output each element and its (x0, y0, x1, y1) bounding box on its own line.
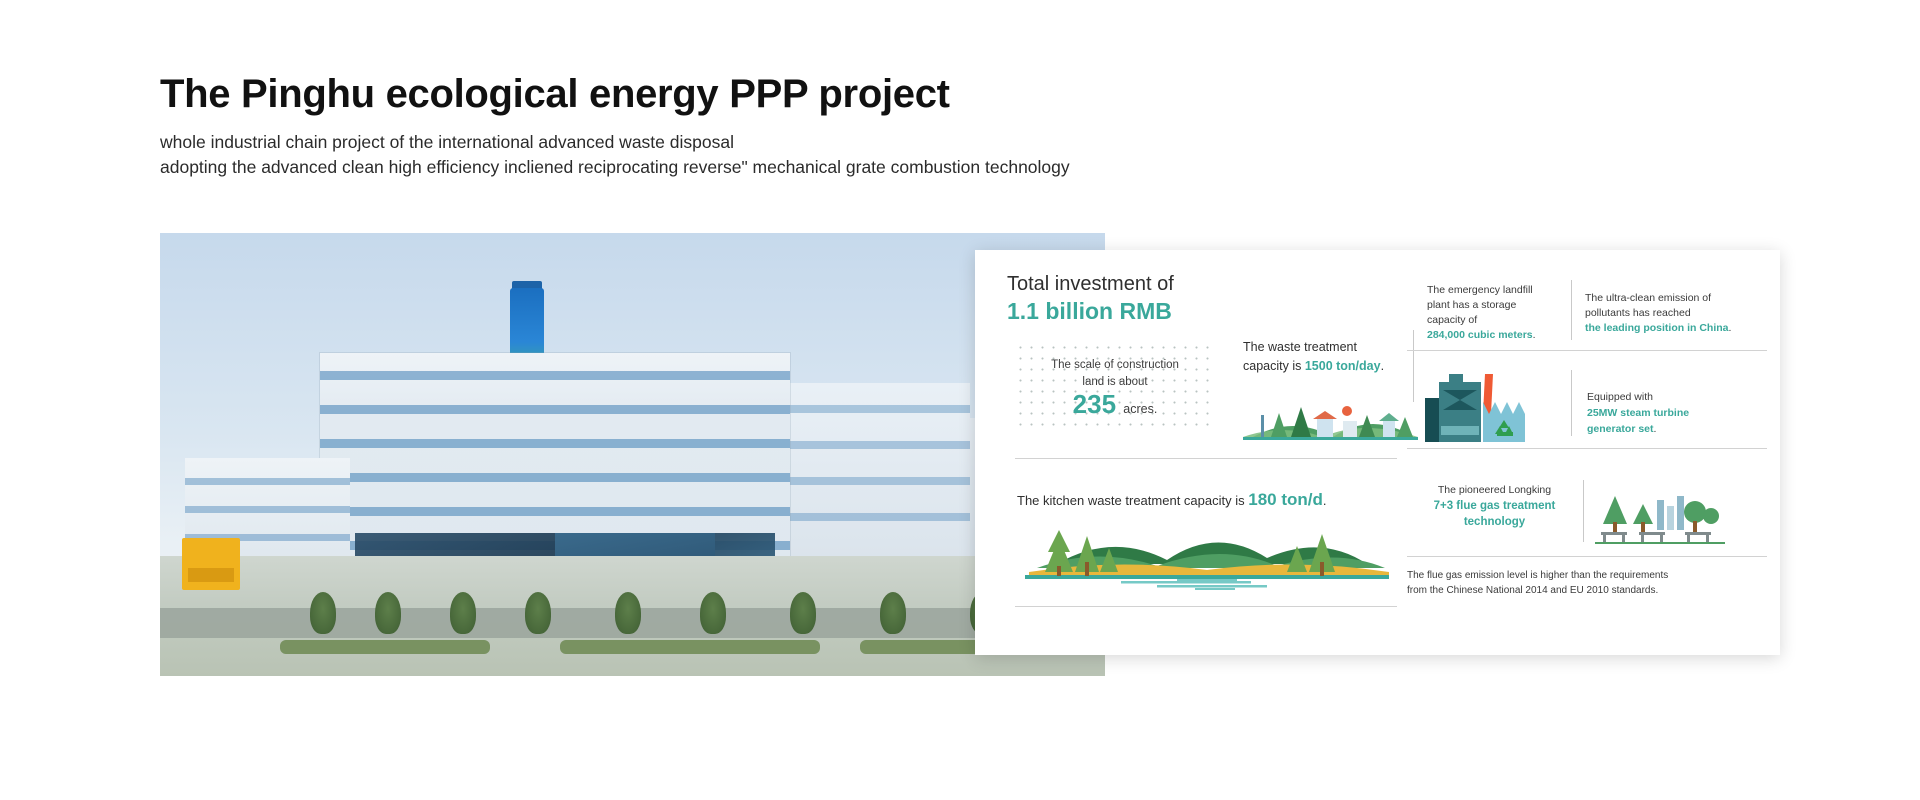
longking-block: The pioneered Longking 7+3 flue gas trea… (1407, 483, 1582, 530)
land-scale-number: 235 acres. (1073, 391, 1158, 417)
waste-capacity-prefix: capacity is (1243, 359, 1301, 373)
landfill-line-2: plant has a storage (1427, 298, 1562, 313)
equipped-value-line-1: 25MW steam turbine (1587, 406, 1757, 422)
longking-line-1: The pioneered Longking (1407, 483, 1582, 498)
equipped-value-1: 25MW steam turbine (1587, 407, 1689, 419)
factory-illustration (1423, 368, 1553, 446)
subtitle-line-1: whole industrial chain project of the in… (160, 130, 1360, 155)
project-photo (160, 233, 1105, 676)
divider-horizontal-1 (1015, 458, 1397, 459)
waste-capacity-suffix: . (1381, 359, 1384, 373)
investment-label: Total investment of (1007, 272, 1307, 297)
land-scale-unit: acres. (1123, 402, 1157, 416)
building-right (760, 383, 970, 558)
divider-horizontal-2 (1015, 606, 1397, 607)
divider-horizontal-3 (1407, 350, 1767, 351)
landfill-line-4: 284,000 cubic meters. (1427, 328, 1562, 343)
landscape-illustration (1017, 518, 1397, 590)
equipped-suffix: . (1654, 423, 1657, 435)
waste-capacity-value: 1500 ton/day (1305, 359, 1381, 373)
ultra-clean-value: the leading position in China (1585, 322, 1729, 334)
village-illustration (1243, 385, 1418, 447)
divider-horizontal-4 (1407, 448, 1767, 449)
ultra-clean-line-2: pollutants has reached (1585, 306, 1760, 321)
flue-gas-block: The flue gas emission level is higher th… (1407, 568, 1767, 598)
kitchen-waste-suffix: . (1323, 493, 1327, 508)
equipped-block: Equipped with 25MW steam turbine generat… (1587, 390, 1757, 437)
kitchen-waste-value: 180 ton/d (1248, 490, 1323, 509)
ultra-clean-line-3: the leading position in China. (1585, 321, 1760, 336)
total-investment-block: Total investment of 1.1 billion RMB (1007, 272, 1307, 326)
investment-value: 1.1 billion RMB (1007, 297, 1307, 326)
ultra-clean-block: The ultra-clean emission of pollutants h… (1585, 291, 1760, 337)
landfill-suffix: . (1533, 329, 1536, 341)
divider-vertical-1 (1413, 330, 1414, 402)
land-scale-line-1: The scale of construction (1051, 357, 1179, 374)
ultra-clean-suffix: . (1729, 322, 1732, 334)
equipped-value-line-2: generator set. (1587, 422, 1757, 438)
equipped-value-2: generator set (1587, 423, 1654, 435)
kitchen-waste-prefix: The kitchen waste treatment capacity is (1017, 493, 1245, 508)
kitchen-waste-line: The kitchen waste treatment capacity is … (1017, 490, 1397, 510)
park-illustration (1595, 490, 1725, 546)
land-scale-block: The scale of construction land is about … (1015, 342, 1215, 432)
landfill-block: The emergency landfill plant has a stora… (1427, 283, 1562, 343)
subtitle-line-2: adopting the advanced clean high efficie… (160, 155, 1360, 180)
page-title: The Pinghu ecological energy PPP project (160, 72, 1360, 116)
divider-vertical-3 (1571, 370, 1572, 436)
flue-gas-line-1: The flue gas emission level is higher th… (1407, 568, 1767, 583)
landfill-line-1: The emergency landfill (1427, 283, 1562, 298)
landfill-value: 284,000 cubic meters (1427, 329, 1533, 341)
longking-value-2: technology (1407, 514, 1582, 530)
flue-gas-line-2: from the Chinese National 2014 and EU 20… (1407, 583, 1767, 598)
land-scale-value: 235 (1073, 389, 1116, 419)
divider-horizontal-5 (1407, 556, 1767, 557)
landfill-line-3: capacity of (1427, 313, 1562, 328)
kitchen-waste-block: The kitchen waste treatment capacity is … (1017, 490, 1397, 510)
equipped-line-1: Equipped with (1587, 390, 1757, 406)
infographic-card: Total investment of 1.1 billion RMB The … (975, 250, 1780, 655)
divider-vertical-2 (1571, 280, 1572, 340)
divider-vertical-4 (1583, 480, 1584, 542)
yellow-structure (182, 538, 240, 590)
ultra-clean-line-1: The ultra-clean emission of (1585, 291, 1760, 306)
longking-value-1: 7+3 flue gas treatment (1407, 498, 1582, 514)
slide-page: The Pinghu ecological energy PPP project… (0, 0, 1920, 800)
header: The Pinghu ecological energy PPP project… (160, 72, 1360, 181)
